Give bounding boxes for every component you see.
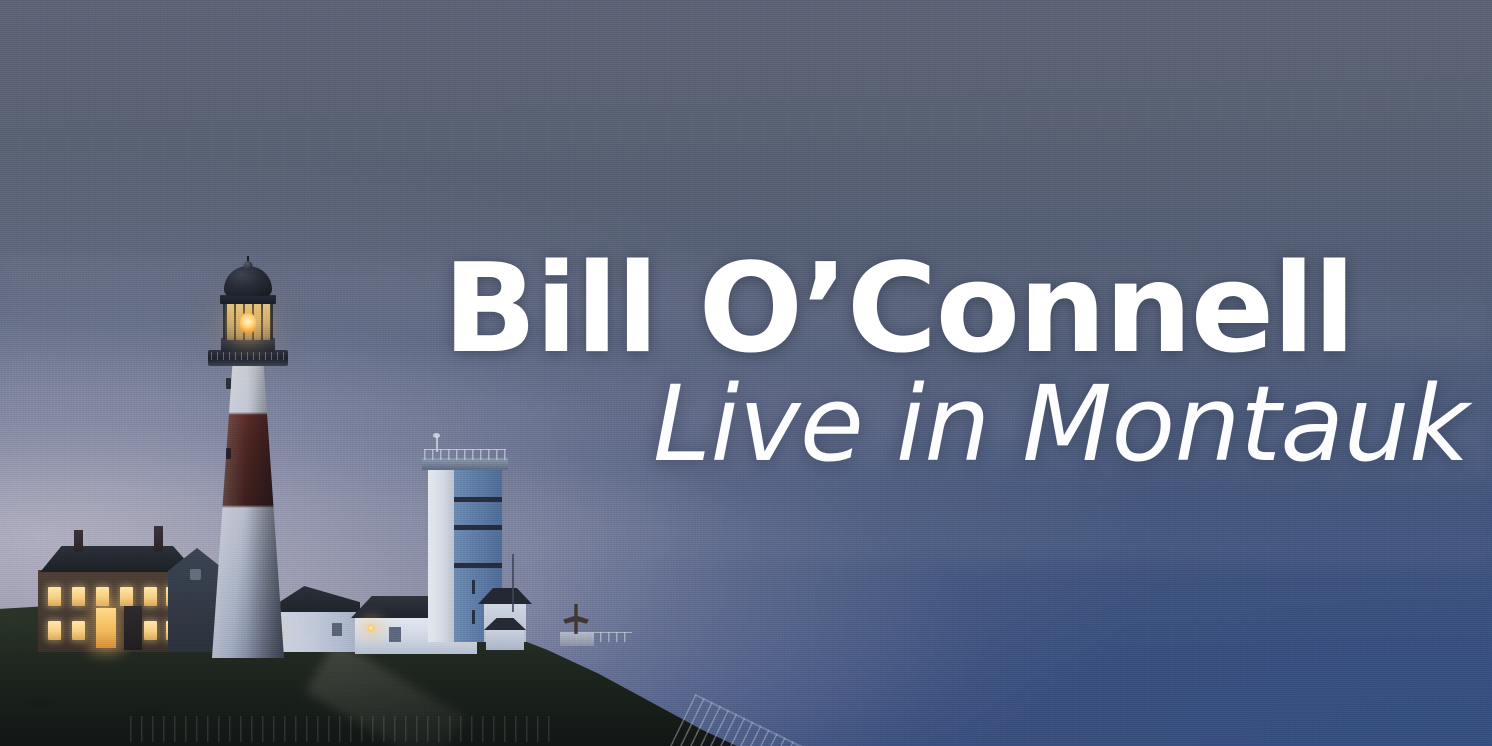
hip-roof-outbuilding-window [389,627,401,642]
monument-base [560,632,594,646]
keepers-window [144,621,157,640]
keepers-house-dark-door [124,606,142,650]
finial-ball-icon [244,261,253,270]
lighthouse-window [226,378,231,389]
keepers-window [48,587,61,606]
shed-roof [484,618,526,630]
tower-mast [436,436,438,452]
keepers-house-lit-doorway [96,608,116,648]
lantern-dome [224,266,272,296]
tower-band [454,525,502,530]
anchor-monument [556,600,596,646]
lighthouse-hero-banner: Bill O’Connell Live in Montauk [0,0,1492,746]
tower-band [454,497,502,502]
chimney-left [74,530,83,552]
beacon-light-icon [240,312,257,334]
small-shed [484,616,526,650]
cliff-fence-right [670,694,812,746]
keepers-window [72,587,85,606]
keepers-house [38,542,218,652]
utility-pole [512,554,514,612]
keepers-window [144,587,157,606]
cliff-fence-left [130,716,550,742]
exterior-lamp-icon [367,624,375,632]
keepers-house-roof [32,546,196,572]
montauk-point-lighthouse [196,258,300,658]
lantern-room-base [221,338,275,352]
lighthouse-tower-shading [212,358,284,658]
keepers-window [72,621,85,640]
keepers-window [120,587,133,606]
gabled-outbuilding-window [332,623,342,636]
lighthouse-window [226,448,231,459]
keepers-window [48,621,61,640]
lantern-upper-ring [220,295,276,304]
concrete-observation-tower [428,456,508,642]
tower-slit-window [472,580,475,594]
tower-band [454,563,502,568]
lighthouse-gallery-railing [208,350,288,366]
tower-antenna-icon [433,433,440,438]
shed-walls [486,628,524,650]
tower-lit-face [428,466,454,642]
tower-slit-window [472,610,475,624]
keepers-window [96,587,109,606]
chimney-right [154,526,163,552]
anchor-icon [562,604,590,634]
